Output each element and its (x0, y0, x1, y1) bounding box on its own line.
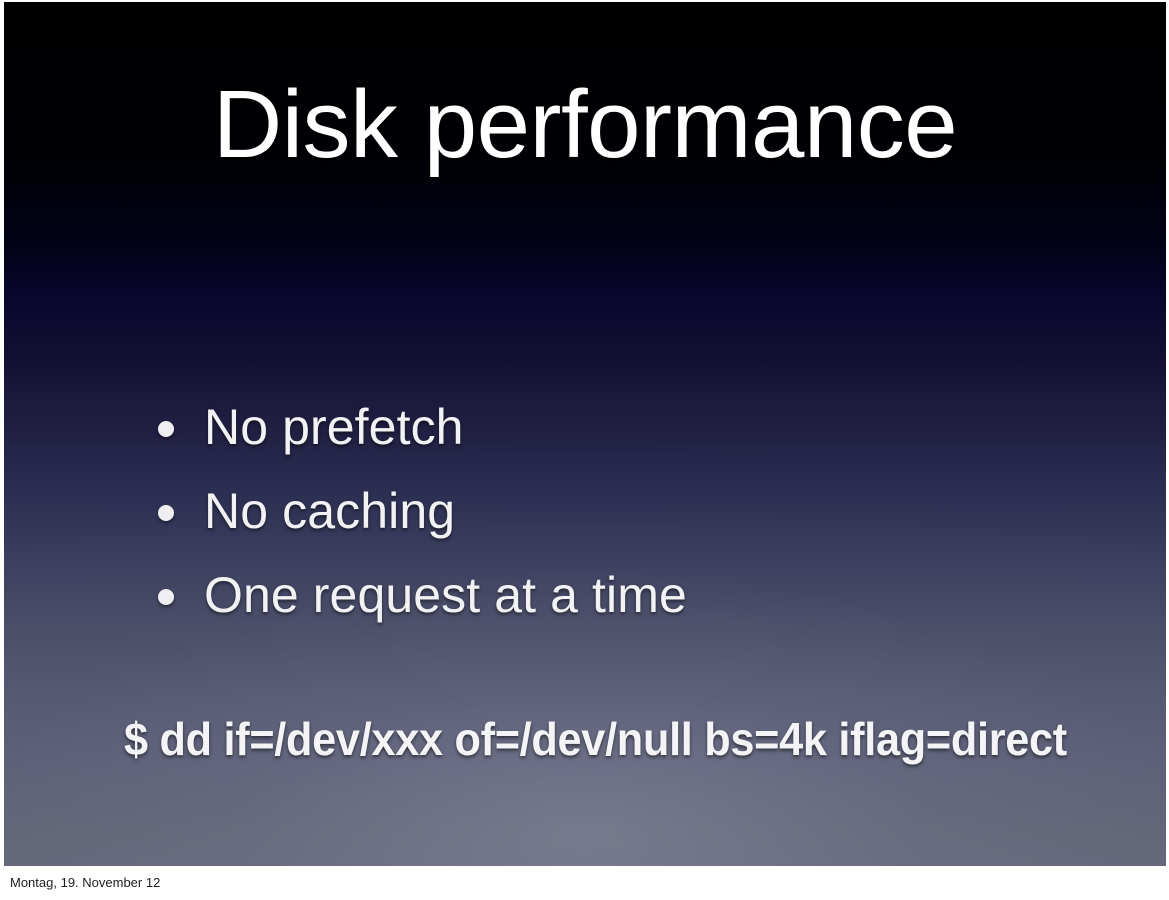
bullet-list: No prefetch No caching One request at a … (152, 394, 1052, 646)
page-title: Disk performance (4, 74, 1166, 176)
slide-canvas: Disk performance No prefetch No caching … (4, 2, 1166, 866)
list-item-label: One request at a time (204, 562, 687, 628)
bullet-dot-icon (158, 421, 174, 437)
list-item-label: No prefetch (204, 394, 464, 460)
shell-command-text: $ dd if=/dev/xxx of=/dev/null bs=4k ifla… (124, 708, 1067, 770)
bullet-dot-icon (158, 505, 174, 521)
list-item-label: No caching (204, 478, 455, 544)
presentation-slide-frame: Disk performance No prefetch No caching … (0, 0, 1169, 872)
bullet-dot-icon (158, 589, 174, 605)
list-item: One request at a time (152, 562, 1052, 646)
list-item: No prefetch (152, 394, 1052, 478)
slide-footer-date: Montag, 19. November 12 (10, 874, 160, 892)
list-item: No caching (152, 478, 1052, 562)
